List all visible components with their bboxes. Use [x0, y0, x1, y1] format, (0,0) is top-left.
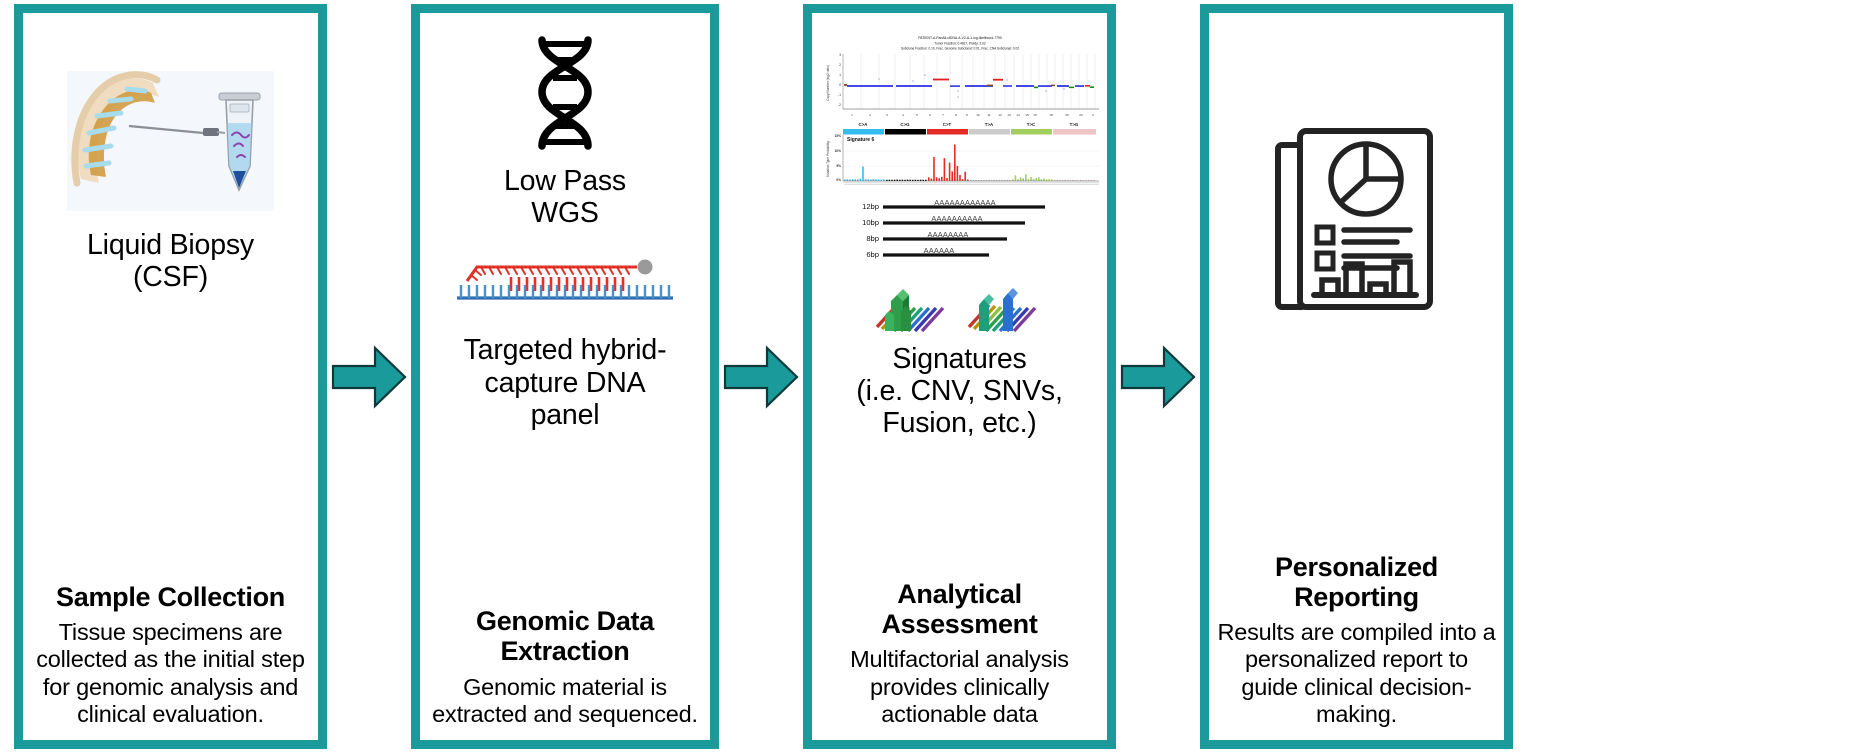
report-document-icon	[1262, 117, 1452, 322]
svg-text:10bp: 10bp	[862, 218, 879, 227]
svg-text:T>C: T>C	[1026, 122, 1035, 127]
step3-title: Analytical Assessment	[881, 579, 1037, 639]
svg-text:22: 22	[1079, 113, 1083, 117]
step3-icon-caption-line2: (i.e. CNV, SNVs,	[856, 375, 1062, 407]
svg-text:X: X	[1091, 113, 1093, 117]
step2-title-line1: Genomic Data	[476, 606, 654, 636]
arrow-step1-to-step2	[327, 340, 411, 414]
svg-text:11: 11	[987, 113, 990, 117]
step4-text-group: Personalized Reporting Results are compi…	[1215, 552, 1498, 732]
copy-number-profile-chart: PATIENT-A-PanAll-cfDNA-A-V2-A-1-log-like…	[817, 31, 1103, 119]
svg-text:4: 4	[902, 113, 904, 117]
step2-secondary-caption-line3: panel	[464, 399, 667, 431]
svg-text:10%: 10%	[834, 149, 841, 153]
svg-text:T>G: T>G	[1069, 122, 1078, 127]
step3-title-line1: Analytical	[881, 579, 1037, 609]
svg-text:15: 15	[1025, 113, 1029, 117]
svg-text:C>A: C>A	[858, 122, 868, 127]
svg-text:13: 13	[1007, 113, 1011, 117]
sanger-chromatogram-peaks	[817, 271, 1103, 337]
step1-description: Tissue specimens are collected as the in…	[29, 619, 312, 728]
svg-text:T>A: T>A	[984, 122, 993, 127]
step-card-sample-collection[interactable]: Liquid Biopsy (CSF) Sample Collection Ti…	[14, 4, 327, 749]
svg-text:5%: 5%	[836, 164, 841, 168]
svg-text:12bp: 12bp	[862, 202, 879, 211]
svg-text:8bp: 8bp	[866, 234, 879, 243]
microsatellite-instability-diagram: 12bp 10bp 8bp 6bp AAAAAAAAAAAA AAAAAAAAA…	[817, 197, 1103, 271]
step4-title-line2: Reporting	[1275, 582, 1438, 612]
svg-text:Subclone Fraction: 0.10, Frac.: Subclone Fraction: 0.10, Frac. Genome Su…	[900, 47, 1018, 51]
step4-title-line1: Personalized	[1275, 552, 1438, 582]
svg-text:0: 0	[839, 83, 841, 87]
genomic-analysis-plots-montage: PATIENT-A-PanAll-cfDNA-A-V2-A-1-log-like…	[815, 31, 1105, 337]
step1-text-group: Sample Collection Tissue specimens are c…	[29, 582, 312, 732]
svg-text:1: 1	[851, 113, 853, 117]
svg-text:18: 18	[1049, 113, 1053, 117]
step2-secondary-caption-line1: Targeted hybrid-	[464, 334, 667, 366]
hybrid-capture-probe-illustration	[449, 255, 681, 324]
svg-text:10: 10	[976, 113, 980, 117]
svg-text:9: 9	[966, 113, 968, 117]
svg-text:AAAAAAAAAAAA: AAAAAAAAAAAA	[934, 198, 996, 207]
step2-title-line2: Extraction	[476, 636, 654, 666]
svg-text:20: 20	[1065, 113, 1069, 117]
step2-secondary-caption-line2: capture DNA	[464, 367, 667, 399]
workflow-diagram: Liquid Biopsy (CSF) Sample Collection Ti…	[0, 0, 1875, 753]
svg-text:2: 2	[869, 113, 871, 117]
svg-text:3: 3	[886, 113, 888, 117]
step1-icon-caption-line2: (CSF)	[87, 261, 254, 293]
step3-visual-group: PATIENT-A-PanAll-cfDNA-A-V2-A-1-log-like…	[818, 17, 1101, 440]
svg-text:3: 3	[839, 53, 841, 57]
step-card-analytical-assessment[interactable]: PATIENT-A-PanAll-cfDNA-A-V2-A-1-log-like…	[803, 4, 1116, 749]
step1-title: Sample Collection	[56, 582, 285, 612]
step3-text-group: Analytical Assessment Multifactorial ana…	[818, 579, 1101, 732]
step2-text-group: Genomic Data Extraction Genomic material…	[426, 606, 704, 732]
svg-text:1: 1	[839, 73, 841, 77]
svg-text:C>G: C>G	[900, 122, 910, 127]
svg-text:2: 2	[839, 63, 841, 67]
svg-text:15%: 15%	[834, 134, 841, 138]
svg-text:Tumor Fraction: 0.4817, Ploidy: Tumor Fraction: 0.4817, Ploidy: 2.02	[934, 42, 986, 46]
svg-text:5: 5	[916, 113, 918, 117]
step3-description: Multifactorial analysis provides clinica…	[818, 646, 1101, 728]
svg-text:AAAAAAAAAA: AAAAAAAAAA	[931, 214, 982, 223]
svg-text:Mutation Type Probability: Mutation Type Probability	[826, 141, 830, 177]
svg-text:16: 16	[1033, 113, 1037, 117]
svg-text:0%: 0%	[836, 178, 841, 182]
svg-text:6: 6	[929, 113, 931, 117]
step3-icon-caption-line1: Signatures	[856, 343, 1062, 375]
step2-visual-group: Low Pass WGS	[426, 17, 704, 431]
svg-text:8: 8	[955, 113, 957, 117]
svg-text:PATIENT-A-PanAll-cfDNA-A-V2-A-: PATIENT-A-PanAll-cfDNA-A-V2-A-1-log-like…	[918, 36, 1002, 40]
step2-icon-caption: Low Pass WGS	[504, 165, 626, 229]
step2-icon-caption-line2: WGS	[504, 197, 626, 229]
step4-visual-group	[1215, 17, 1498, 332]
svg-text:-1: -1	[837, 93, 840, 97]
step3-title-line2: Assessment	[881, 609, 1037, 639]
step4-description: Results are compiled into a personalized…	[1215, 619, 1498, 728]
liquid-biopsy-spine-and-tube-image	[67, 71, 274, 211]
svg-text:7: 7	[942, 113, 944, 117]
step4-title: Personalized Reporting	[1275, 552, 1438, 612]
arrow-step2-to-step3	[719, 340, 803, 414]
svg-text:14: 14	[1016, 113, 1020, 117]
step3-icon-caption: Signatures (i.e. CNV, SNVs, Fusion, etc.…	[856, 343, 1062, 440]
step2-description: Genomic material is extracted and sequen…	[426, 674, 704, 729]
svg-text:AAAAAAAA: AAAAAAAA	[927, 230, 968, 239]
step1-icon-caption: Liquid Biopsy (CSF)	[87, 229, 254, 293]
svg-text:12: 12	[998, 113, 1002, 117]
svg-text:6bp: 6bp	[866, 250, 879, 259]
svg-text:Copy Number (log2 ratio): Copy Number (log2 ratio)	[826, 65, 830, 101]
svg-text:AAAAAA: AAAAAA	[923, 246, 954, 255]
step-card-personalized-reporting[interactable]: Personalized Reporting Results are compi…	[1200, 4, 1513, 749]
step1-visual-group: Liquid Biopsy (CSF)	[29, 17, 312, 293]
arrow-step3-to-step4	[1116, 340, 1200, 414]
step2-title: Genomic Data Extraction	[476, 606, 654, 666]
step-card-genomic-data-extraction[interactable]: Low Pass WGS	[411, 4, 719, 749]
mutational-signature-chart: C>AC>GC>T T>AT>CT>G Signature 6 15%10% 5…	[817, 119, 1103, 197]
dna-double-helix-icon	[524, 34, 606, 159]
step1-icon-caption-line1: Liquid Biopsy	[87, 229, 254, 261]
step2-secondary-caption: Targeted hybrid- capture DNA panel	[464, 334, 667, 431]
svg-text:-2: -2	[837, 103, 840, 107]
svg-text:Signature 6: Signature 6	[847, 137, 874, 143]
step2-icon-caption-line1: Low Pass	[504, 165, 626, 197]
svg-text:C>T: C>T	[942, 122, 951, 127]
step3-icon-caption-line3: Fusion, etc.)	[856, 407, 1062, 439]
